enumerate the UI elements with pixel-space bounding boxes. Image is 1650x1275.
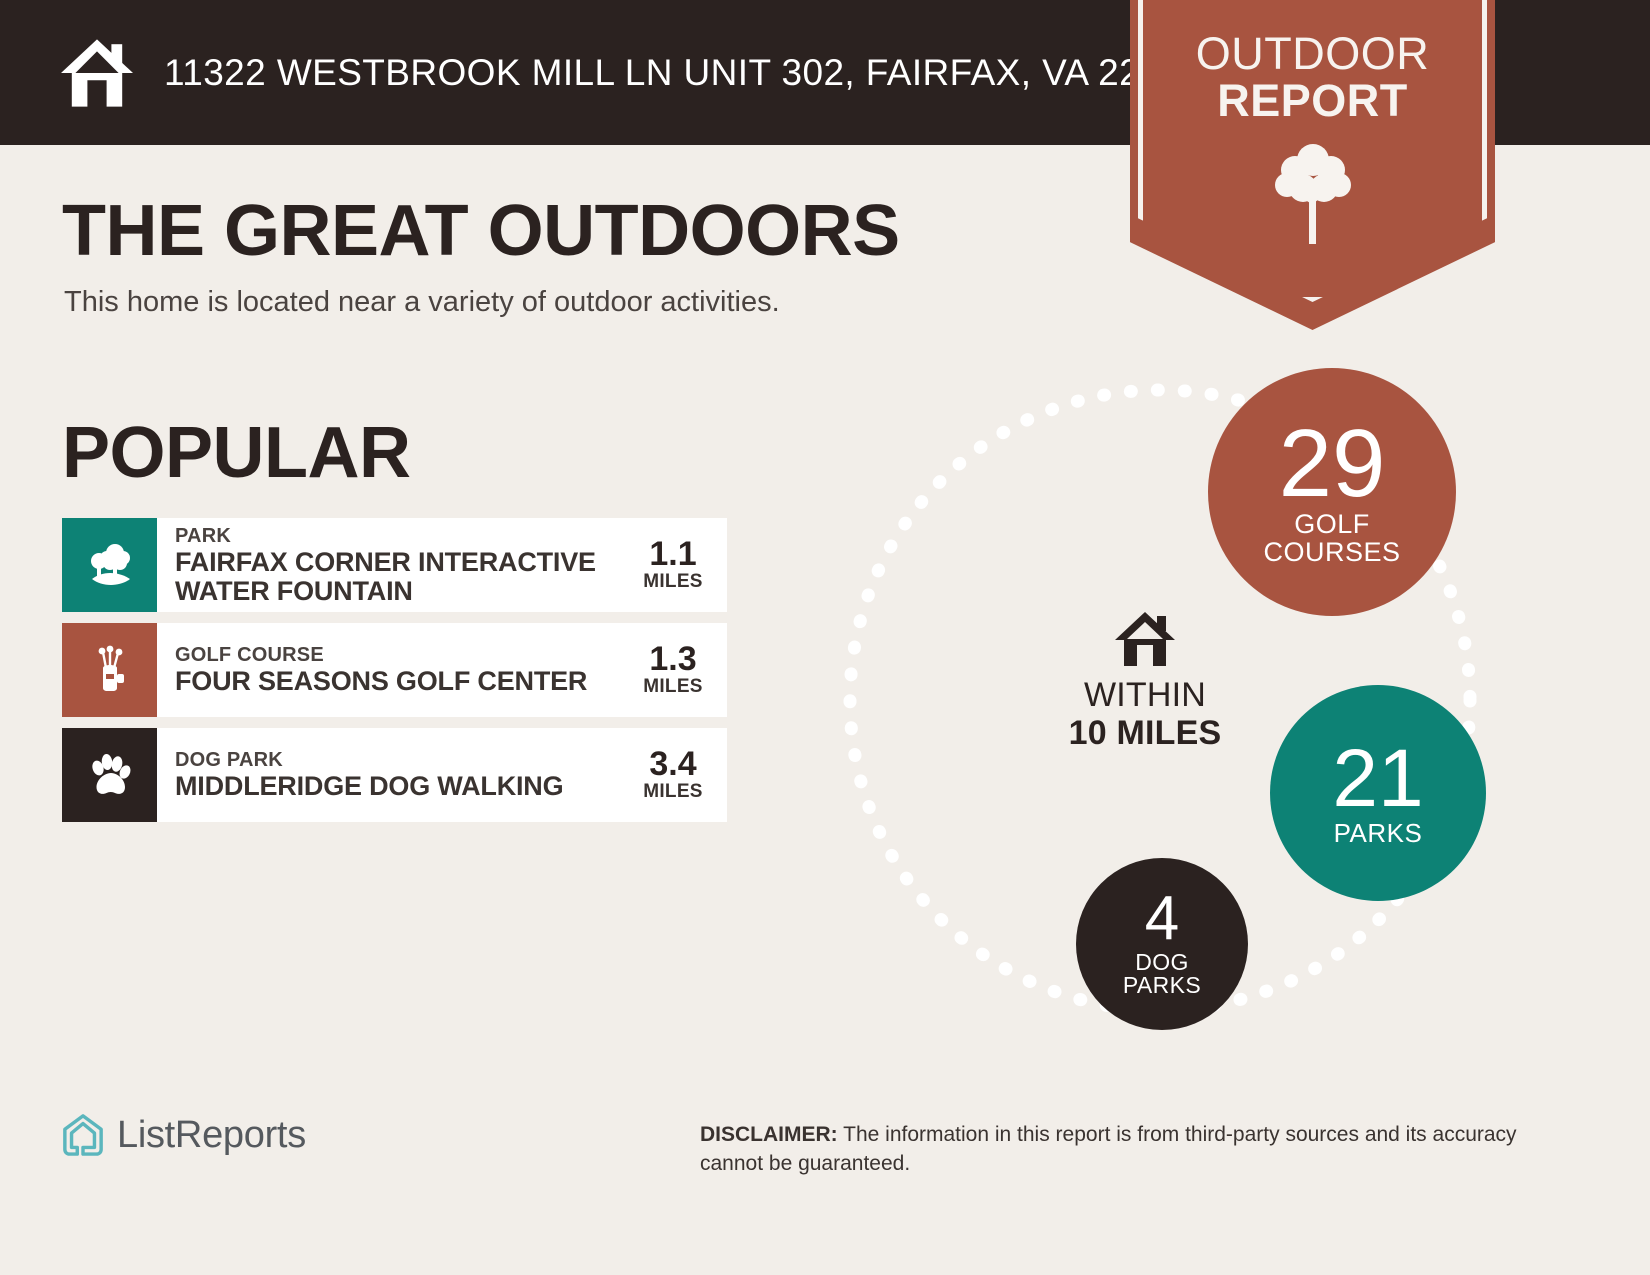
stat-label-line2: COURSES — [1263, 539, 1400, 567]
badge-title: OUTDOOR REPORT — [1130, 30, 1495, 124]
list-item-distance: 1.3 MILES — [629, 642, 721, 698]
list-item-name: MIDDLERIDGE DOG WALKING — [175, 772, 629, 801]
popular-heading: POPULAR — [62, 412, 411, 494]
list-item[interactable]: DOG PARK MIDDLERIDGE DOG WALKING 3.4 MIL… — [62, 728, 727, 822]
disclaimer: DISCLAIMER: The information in this repo… — [700, 1120, 1520, 1178]
stat-bubble-parks[interactable]: 21 PARKS — [1270, 685, 1486, 901]
stats-diagram: WITHIN 10 MILES 29 GOLF COURSES 21 PARKS… — [820, 330, 1540, 1070]
stat-label-line1: PARKS — [1334, 820, 1423, 847]
stat-value: 29 — [1279, 418, 1386, 509]
disclaimer-label: DISCLAIMER: — [700, 1123, 838, 1146]
center-within-label: WITHIN — [1050, 676, 1240, 714]
popular-list: PARK FAIRFAX CORNER INTERACTIVE WATER FO… — [62, 518, 727, 833]
list-item-category: PARK — [175, 525, 629, 548]
tree-icon — [1270, 140, 1356, 248]
home-icon — [1112, 610, 1178, 668]
stat-bubble-golf-courses[interactable]: 29 GOLF COURSES — [1208, 368, 1456, 616]
stat-label-line1: DOG — [1135, 951, 1189, 974]
list-item[interactable]: GOLF COURSE FOUR SEASONS GOLF CENTER 1.3… — [62, 623, 727, 717]
list-item-distance: 1.1 MILES — [629, 537, 721, 593]
list-item-name: FOUR SEASONS GOLF CENTER — [175, 667, 629, 696]
badge-title-line1: OUTDOOR — [1130, 30, 1495, 77]
distance-unit: MILES — [629, 676, 717, 698]
list-item[interactable]: PARK FAIRFAX CORNER INTERACTIVE WATER FO… — [62, 518, 727, 612]
stat-value: 21 — [1332, 740, 1423, 818]
brand-name: ListReports — [117, 1114, 306, 1157]
listreports-brand[interactable]: ListReports — [62, 1113, 306, 1157]
list-item-name: FAIRFAX CORNER INTERACTIVE WATER FOUNTAI… — [175, 548, 629, 606]
outdoor-report-badge: OUTDOOR REPORT — [1130, 0, 1495, 330]
distance-value: 1.1 — [629, 537, 717, 571]
list-item-category: DOG PARK — [175, 749, 629, 772]
distance-value: 3.4 — [629, 747, 717, 781]
list-item-category: GOLF COURSE — [175, 644, 629, 667]
home-icon — [58, 37, 136, 109]
distance-unit: MILES — [629, 571, 717, 593]
stat-label-line1: GOLF — [1294, 511, 1370, 539]
golf-bag-icon — [62, 623, 157, 717]
listreports-home-logo — [62, 1113, 104, 1157]
stat-label-line2: PARKS — [1123, 974, 1201, 997]
list-item-distance: 3.4 MILES — [629, 747, 721, 803]
center-miles-label: 10 MILES — [1050, 714, 1240, 752]
stat-value: 4 — [1145, 890, 1179, 949]
distance-value: 1.3 — [629, 642, 717, 676]
distance-unit: MILES — [629, 781, 717, 803]
center-home-marker: WITHIN 10 MILES — [1050, 610, 1240, 752]
park-trees-icon — [62, 518, 157, 612]
stat-bubble-dog-parks[interactable]: 4 DOG PARKS — [1076, 858, 1248, 1030]
header-address: 11322 WESTBROOK MILL LN UNIT 302, FAIRFA… — [164, 52, 1203, 94]
page-subtitle: This home is located near a variety of o… — [64, 286, 780, 319]
badge-title-line2: REPORT — [1130, 77, 1495, 124]
paw-print-icon — [62, 728, 157, 822]
page-title: THE GREAT OUTDOORS — [62, 190, 900, 272]
